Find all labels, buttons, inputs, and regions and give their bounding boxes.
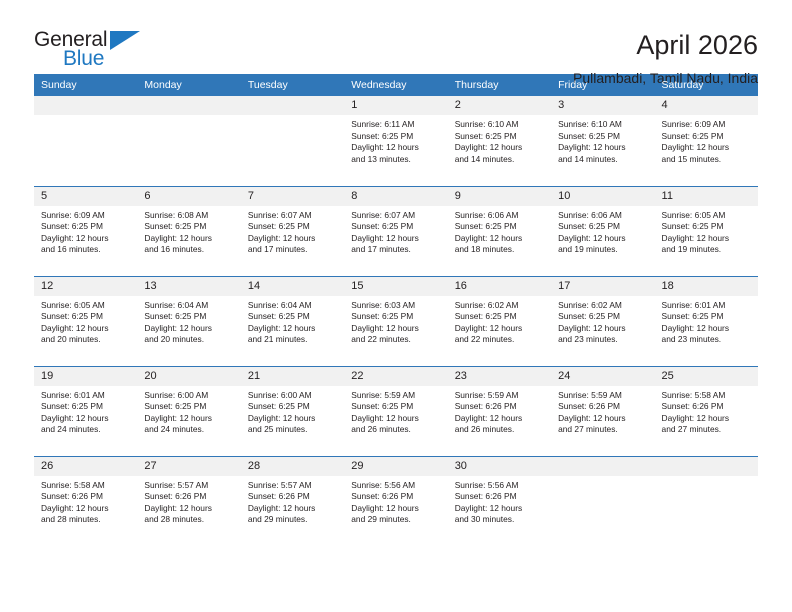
daylight-text-line2: and 24 minutes. — [144, 424, 234, 436]
calendar-day-cell[interactable]: 17Sunrise: 6:02 AMSunset: 6:25 PMDayligh… — [551, 276, 654, 366]
daylight-text-line1: Daylight: 12 hours — [558, 142, 648, 154]
sunset-text: Sunset: 6:25 PM — [455, 131, 545, 143]
sunset-text: Sunset: 6:26 PM — [455, 401, 545, 413]
sunset-text: Sunset: 6:25 PM — [41, 311, 131, 323]
daylight-text-line1: Daylight: 12 hours — [662, 142, 752, 154]
sunset-text: Sunset: 6:25 PM — [248, 401, 338, 413]
daylight-text-line2: and 23 minutes. — [662, 334, 752, 346]
sunrise-text: Sunrise: 5:56 AM — [455, 480, 545, 492]
day-number: 23 — [448, 367, 551, 386]
daylight-text-line1: Daylight: 12 hours — [558, 233, 648, 245]
title-block: April 2026 Pullambadi, Tamil Nadu, India — [573, 28, 758, 86]
daylight-text-line2: and 13 minutes. — [351, 154, 441, 166]
weekday-header-sunday: Sunday — [34, 74, 137, 96]
day-number: 6 — [137, 187, 240, 206]
day-number — [655, 457, 758, 476]
daylight-text-line2: and 16 minutes. — [41, 244, 131, 256]
daylight-text-line1: Daylight: 12 hours — [351, 323, 441, 335]
day-details: Sunrise: 6:04 AMSunset: 6:25 PMDaylight:… — [137, 296, 240, 346]
sunrise-text: Sunrise: 6:02 AM — [455, 300, 545, 312]
sunrise-text: Sunrise: 5:58 AM — [662, 390, 752, 402]
calendar-day-cell[interactable]: 25Sunrise: 5:58 AMSunset: 6:26 PMDayligh… — [655, 366, 758, 456]
sunrise-text: Sunrise: 6:09 AM — [41, 210, 131, 222]
daylight-text-line2: and 25 minutes. — [248, 424, 338, 436]
calendar-day-cell[interactable]: 3Sunrise: 6:10 AMSunset: 6:25 PMDaylight… — [551, 96, 654, 186]
daylight-text-line1: Daylight: 12 hours — [351, 413, 441, 425]
weekday-header-tuesday: Tuesday — [241, 74, 344, 96]
daylight-text-line2: and 26 minutes. — [455, 424, 545, 436]
sunrise-text: Sunrise: 5:59 AM — [558, 390, 648, 402]
sunrise-text: Sunrise: 6:05 AM — [662, 210, 752, 222]
day-number: 26 — [34, 457, 137, 476]
day-details: Sunrise: 5:58 AMSunset: 6:26 PMDaylight:… — [34, 476, 137, 526]
daylight-text-line1: Daylight: 12 hours — [558, 413, 648, 425]
calendar-day-cell[interactable]: 28Sunrise: 5:57 AMSunset: 6:26 PMDayligh… — [241, 456, 344, 546]
daylight-text-line1: Daylight: 12 hours — [662, 233, 752, 245]
calendar-week-row: 12Sunrise: 6:05 AMSunset: 6:25 PMDayligh… — [34, 276, 758, 366]
sunrise-text: Sunrise: 6:04 AM — [144, 300, 234, 312]
calendar-day-cell-empty — [241, 96, 344, 186]
day-number: 10 — [551, 187, 654, 206]
sunrise-text: Sunrise: 6:01 AM — [41, 390, 131, 402]
page-header: General Blue April 2026 Pullambadi, Tami… — [34, 0, 758, 74]
daylight-text-line2: and 14 minutes. — [455, 154, 545, 166]
sunset-text: Sunset: 6:25 PM — [558, 221, 648, 233]
sunrise-text: Sunrise: 6:05 AM — [41, 300, 131, 312]
day-number: 25 — [655, 367, 758, 386]
day-details: Sunrise: 6:01 AMSunset: 6:25 PMDaylight:… — [34, 386, 137, 436]
calendar-day-cell[interactable]: 30Sunrise: 5:56 AMSunset: 6:26 PMDayligh… — [448, 456, 551, 546]
daylight-text-line1: Daylight: 12 hours — [248, 503, 338, 515]
sunrise-text: Sunrise: 6:07 AM — [248, 210, 338, 222]
day-details: Sunrise: 6:10 AMSunset: 6:25 PMDaylight:… — [551, 115, 654, 165]
calendar-day-cell[interactable]: 19Sunrise: 6:01 AMSunset: 6:25 PMDayligh… — [34, 366, 137, 456]
day-details: Sunrise: 5:57 AMSunset: 6:26 PMDaylight:… — [241, 476, 344, 526]
calendar-day-cell-empty — [34, 96, 137, 186]
day-number: 13 — [137, 277, 240, 296]
sunrise-text: Sunrise: 6:09 AM — [662, 119, 752, 131]
sunrise-text: Sunrise: 6:01 AM — [662, 300, 752, 312]
daylight-text-line2: and 19 minutes. — [662, 244, 752, 256]
generalblue-logo[interactable]: General Blue — [34, 28, 152, 76]
day-number: 1 — [344, 96, 447, 115]
sunset-text: Sunset: 6:25 PM — [351, 221, 441, 233]
daylight-text-line2: and 23 minutes. — [558, 334, 648, 346]
sunset-text: Sunset: 6:25 PM — [662, 131, 752, 143]
sunset-text: Sunset: 6:26 PM — [351, 491, 441, 503]
day-details: Sunrise: 5:58 AMSunset: 6:26 PMDaylight:… — [655, 386, 758, 436]
logo-triangle-icon — [110, 31, 140, 50]
sunset-text: Sunset: 6:25 PM — [144, 221, 234, 233]
daylight-text-line1: Daylight: 12 hours — [41, 323, 131, 335]
calendar-day-cell[interactable]: 9Sunrise: 6:06 AMSunset: 6:25 PMDaylight… — [448, 186, 551, 276]
day-number: 21 — [241, 367, 344, 386]
calendar-day-cell[interactable]: 16Sunrise: 6:02 AMSunset: 6:25 PMDayligh… — [448, 276, 551, 366]
day-number: 3 — [551, 96, 654, 115]
sunset-text: Sunset: 6:25 PM — [455, 221, 545, 233]
calendar-day-cell[interactable]: 8Sunrise: 6:07 AMSunset: 6:25 PMDaylight… — [344, 186, 447, 276]
daylight-text-line1: Daylight: 12 hours — [662, 323, 752, 335]
daylight-text-line1: Daylight: 12 hours — [41, 503, 131, 515]
sunrise-text: Sunrise: 6:06 AM — [455, 210, 545, 222]
day-number: 5 — [34, 187, 137, 206]
daylight-text-line2: and 27 minutes. — [662, 424, 752, 436]
daylight-text-line1: Daylight: 12 hours — [144, 503, 234, 515]
sunset-text: Sunset: 6:25 PM — [351, 311, 441, 323]
sunset-text: Sunset: 6:25 PM — [455, 311, 545, 323]
calendar-page: General Blue April 2026 Pullambadi, Tami… — [0, 0, 792, 612]
daylight-text-line2: and 24 minutes. — [41, 424, 131, 436]
day-details: Sunrise: 5:59 AMSunset: 6:26 PMDaylight:… — [551, 386, 654, 436]
sunset-text: Sunset: 6:25 PM — [351, 131, 441, 143]
daylight-text-line1: Daylight: 12 hours — [662, 413, 752, 425]
day-number: 30 — [448, 457, 551, 476]
sunset-text: Sunset: 6:25 PM — [662, 221, 752, 233]
day-number: 20 — [137, 367, 240, 386]
sunrise-text: Sunrise: 6:06 AM — [558, 210, 648, 222]
calendar-day-cell[interactable]: 23Sunrise: 5:59 AMSunset: 6:26 PMDayligh… — [448, 366, 551, 456]
calendar-day-cell[interactable]: 22Sunrise: 5:59 AMSunset: 6:25 PMDayligh… — [344, 366, 447, 456]
calendar-day-cell[interactable]: 15Sunrise: 6:03 AMSunset: 6:25 PMDayligh… — [344, 276, 447, 366]
calendar-week-row: 19Sunrise: 6:01 AMSunset: 6:25 PMDayligh… — [34, 366, 758, 456]
daylight-text-line1: Daylight: 12 hours — [41, 413, 131, 425]
daylight-text-line2: and 21 minutes. — [248, 334, 338, 346]
day-number: 11 — [655, 187, 758, 206]
day-details: Sunrise: 6:11 AMSunset: 6:25 PMDaylight:… — [344, 115, 447, 165]
daylight-text-line2: and 28 minutes. — [144, 514, 234, 526]
day-details: Sunrise: 6:08 AMSunset: 6:25 PMDaylight:… — [137, 206, 240, 256]
day-details: Sunrise: 6:06 AMSunset: 6:25 PMDaylight:… — [448, 206, 551, 256]
daylight-text-line2: and 29 minutes. — [248, 514, 338, 526]
sunrise-text: Sunrise: 6:02 AM — [558, 300, 648, 312]
calendar-day-cell[interactable]: 7Sunrise: 6:07 AMSunset: 6:25 PMDaylight… — [241, 186, 344, 276]
day-details: Sunrise: 6:02 AMSunset: 6:25 PMDaylight:… — [448, 296, 551, 346]
daylight-text-line1: Daylight: 12 hours — [248, 413, 338, 425]
sunset-text: Sunset: 6:25 PM — [248, 311, 338, 323]
day-number — [34, 96, 137, 115]
day-number: 7 — [241, 187, 344, 206]
sunrise-text: Sunrise: 5:56 AM — [351, 480, 441, 492]
sunset-text: Sunset: 6:25 PM — [558, 311, 648, 323]
day-number: 22 — [344, 367, 447, 386]
day-details: Sunrise: 6:06 AMSunset: 6:25 PMDaylight:… — [551, 206, 654, 256]
sunset-text: Sunset: 6:25 PM — [558, 131, 648, 143]
day-details: Sunrise: 5:59 AMSunset: 6:25 PMDaylight:… — [344, 386, 447, 436]
day-details: Sunrise: 5:56 AMSunset: 6:26 PMDaylight:… — [344, 476, 447, 526]
daylight-text-line1: Daylight: 12 hours — [144, 413, 234, 425]
calendar-day-cell-empty — [551, 456, 654, 546]
sunrise-text: Sunrise: 6:08 AM — [144, 210, 234, 222]
calendar-day-cell[interactable]: 20Sunrise: 6:00 AMSunset: 6:25 PMDayligh… — [137, 366, 240, 456]
calendar-week-row: 1Sunrise: 6:11 AMSunset: 6:25 PMDaylight… — [34, 96, 758, 186]
sunset-text: Sunset: 6:26 PM — [144, 491, 234, 503]
sunrise-text: Sunrise: 6:00 AM — [248, 390, 338, 402]
daylight-text-line2: and 20 minutes. — [144, 334, 234, 346]
daylight-text-line2: and 17 minutes. — [248, 244, 338, 256]
calendar-day-cell[interactable]: 10Sunrise: 6:06 AMSunset: 6:25 PMDayligh… — [551, 186, 654, 276]
page-title: April 2026 — [573, 30, 758, 60]
day-details: Sunrise: 6:00 AMSunset: 6:25 PMDaylight:… — [241, 386, 344, 436]
calendar-day-cell[interactable]: 13Sunrise: 6:04 AMSunset: 6:25 PMDayligh… — [137, 276, 240, 366]
daylight-text-line1: Daylight: 12 hours — [144, 233, 234, 245]
day-details: Sunrise: 6:02 AMSunset: 6:25 PMDaylight:… — [551, 296, 654, 346]
calendar-day-cell[interactable]: 27Sunrise: 5:57 AMSunset: 6:26 PMDayligh… — [137, 456, 240, 546]
sunrise-text: Sunrise: 5:58 AM — [41, 480, 131, 492]
day-number: 8 — [344, 187, 447, 206]
calendar-week-row: 5Sunrise: 6:09 AMSunset: 6:25 PMDaylight… — [34, 186, 758, 276]
calendar-table: SundayMondayTuesdayWednesdayThursdayFrid… — [34, 74, 758, 546]
day-details: Sunrise: 6:04 AMSunset: 6:25 PMDaylight:… — [241, 296, 344, 346]
daylight-text-line2: and 20 minutes. — [41, 334, 131, 346]
day-details: Sunrise: 6:05 AMSunset: 6:25 PMDaylight:… — [34, 296, 137, 346]
day-number: 16 — [448, 277, 551, 296]
calendar-day-cell-empty — [137, 96, 240, 186]
sunset-text: Sunset: 6:25 PM — [41, 401, 131, 413]
sunrise-text: Sunrise: 5:57 AM — [144, 480, 234, 492]
sunset-text: Sunset: 6:25 PM — [144, 401, 234, 413]
sunset-text: Sunset: 6:26 PM — [248, 491, 338, 503]
day-details: Sunrise: 6:05 AMSunset: 6:25 PMDaylight:… — [655, 206, 758, 256]
calendar-week-row: 26Sunrise: 5:58 AMSunset: 6:26 PMDayligh… — [34, 456, 758, 546]
day-number: 27 — [137, 457, 240, 476]
day-details: Sunrise: 5:57 AMSunset: 6:26 PMDaylight:… — [137, 476, 240, 526]
daylight-text-line1: Daylight: 12 hours — [455, 323, 545, 335]
calendar-day-cell[interactable]: 5Sunrise: 6:09 AMSunset: 6:25 PMDaylight… — [34, 186, 137, 276]
calendar-day-cell[interactable]: 1Sunrise: 6:11 AMSunset: 6:25 PMDaylight… — [344, 96, 447, 186]
day-details: Sunrise: 6:03 AMSunset: 6:25 PMDaylight:… — [344, 296, 447, 346]
day-number — [551, 457, 654, 476]
day-number: 24 — [551, 367, 654, 386]
daylight-text-line1: Daylight: 12 hours — [351, 233, 441, 245]
sunset-text: Sunset: 6:25 PM — [41, 221, 131, 233]
day-details: Sunrise: 5:59 AMSunset: 6:26 PMDaylight:… — [448, 386, 551, 436]
daylight-text-line1: Daylight: 12 hours — [248, 233, 338, 245]
daylight-text-line2: and 14 minutes. — [558, 154, 648, 166]
sunset-text: Sunset: 6:25 PM — [248, 221, 338, 233]
day-details: Sunrise: 6:09 AMSunset: 6:25 PMDaylight:… — [655, 115, 758, 165]
daylight-text-line2: and 18 minutes. — [455, 244, 545, 256]
sunrise-text: Sunrise: 6:04 AM — [248, 300, 338, 312]
day-number — [241, 96, 344, 115]
calendar-day-cell-empty — [655, 456, 758, 546]
daylight-text-line2: and 28 minutes. — [41, 514, 131, 526]
calendar-body: 1Sunrise: 6:11 AMSunset: 6:25 PMDaylight… — [34, 96, 758, 546]
sunrise-text: Sunrise: 6:03 AM — [351, 300, 441, 312]
daylight-text-line1: Daylight: 12 hours — [558, 323, 648, 335]
sunrise-text: Sunrise: 6:00 AM — [144, 390, 234, 402]
sunset-text: Sunset: 6:26 PM — [41, 491, 131, 503]
day-number: 4 — [655, 96, 758, 115]
day-details: Sunrise: 6:07 AMSunset: 6:25 PMDaylight:… — [344, 206, 447, 256]
day-number: 19 — [34, 367, 137, 386]
sunrise-text: Sunrise: 5:59 AM — [351, 390, 441, 402]
day-number: 9 — [448, 187, 551, 206]
calendar-day-cell[interactable]: 18Sunrise: 6:01 AMSunset: 6:25 PMDayligh… — [655, 276, 758, 366]
sunrise-text: Sunrise: 6:11 AM — [351, 119, 441, 131]
daylight-text-line1: Daylight: 12 hours — [351, 142, 441, 154]
daylight-text-line1: Daylight: 12 hours — [248, 323, 338, 335]
day-number — [137, 96, 240, 115]
day-number: 17 — [551, 277, 654, 296]
daylight-text-line1: Daylight: 12 hours — [455, 142, 545, 154]
daylight-text-line1: Daylight: 12 hours — [351, 503, 441, 515]
day-details: Sunrise: 6:07 AMSunset: 6:25 PMDaylight:… — [241, 206, 344, 256]
daylight-text-line1: Daylight: 12 hours — [41, 233, 131, 245]
daylight-text-line2: and 26 minutes. — [351, 424, 441, 436]
daylight-text-line1: Daylight: 12 hours — [455, 413, 545, 425]
calendar-day-cell[interactable]: 14Sunrise: 6:04 AMSunset: 6:25 PMDayligh… — [241, 276, 344, 366]
daylight-text-line2: and 15 minutes. — [662, 154, 752, 166]
sunset-text: Sunset: 6:25 PM — [351, 401, 441, 413]
calendar-day-cell[interactable]: 2Sunrise: 6:10 AMSunset: 6:25 PMDaylight… — [448, 96, 551, 186]
sunrise-text: Sunrise: 6:07 AM — [351, 210, 441, 222]
weekday-header-thursday: Thursday — [448, 74, 551, 96]
daylight-text-line2: and 22 minutes. — [351, 334, 441, 346]
day-details: Sunrise: 5:56 AMSunset: 6:26 PMDaylight:… — [448, 476, 551, 526]
day-number: 15 — [344, 277, 447, 296]
daylight-text-line2: and 22 minutes. — [455, 334, 545, 346]
sunset-text: Sunset: 6:25 PM — [144, 311, 234, 323]
sunrise-text: Sunrise: 6:10 AM — [558, 119, 648, 131]
day-number: 18 — [655, 277, 758, 296]
daylight-text-line1: Daylight: 12 hours — [144, 323, 234, 335]
calendar-day-cell[interactable]: 24Sunrise: 5:59 AMSunset: 6:26 PMDayligh… — [551, 366, 654, 456]
daylight-text-line2: and 17 minutes. — [351, 244, 441, 256]
sunrise-text: Sunrise: 5:59 AM — [455, 390, 545, 402]
day-number: 2 — [448, 96, 551, 115]
sunset-text: Sunset: 6:26 PM — [455, 491, 545, 503]
daylight-text-line1: Daylight: 12 hours — [455, 233, 545, 245]
calendar-day-cell[interactable]: 6Sunrise: 6:08 AMSunset: 6:25 PMDaylight… — [137, 186, 240, 276]
sunrise-text: Sunrise: 6:10 AM — [455, 119, 545, 131]
calendar-day-cell[interactable]: 21Sunrise: 6:00 AMSunset: 6:25 PMDayligh… — [241, 366, 344, 456]
sunset-text: Sunset: 6:26 PM — [662, 401, 752, 413]
sunrise-text: Sunrise: 5:57 AM — [248, 480, 338, 492]
calendar-day-cell[interactable]: 29Sunrise: 5:56 AMSunset: 6:26 PMDayligh… — [344, 456, 447, 546]
day-number: 28 — [241, 457, 344, 476]
day-details: Sunrise: 6:00 AMSunset: 6:25 PMDaylight:… — [137, 386, 240, 436]
day-details: Sunrise: 6:01 AMSunset: 6:25 PMDaylight:… — [655, 296, 758, 346]
logo-text-blue: Blue — [63, 47, 104, 71]
calendar-day-cell[interactable]: 26Sunrise: 5:58 AMSunset: 6:26 PMDayligh… — [34, 456, 137, 546]
daylight-text-line2: and 27 minutes. — [558, 424, 648, 436]
day-details: Sunrise: 6:10 AMSunset: 6:25 PMDaylight:… — [448, 115, 551, 165]
daylight-text-line1: Daylight: 12 hours — [455, 503, 545, 515]
calendar-day-cell[interactable]: 12Sunrise: 6:05 AMSunset: 6:25 PMDayligh… — [34, 276, 137, 366]
calendar-day-cell[interactable]: 4Sunrise: 6:09 AMSunset: 6:25 PMDaylight… — [655, 96, 758, 186]
sunset-text: Sunset: 6:25 PM — [662, 311, 752, 323]
daylight-text-line2: and 29 minutes. — [351, 514, 441, 526]
day-details: Sunrise: 6:09 AMSunset: 6:25 PMDaylight:… — [34, 206, 137, 256]
calendar-day-cell[interactable]: 11Sunrise: 6:05 AMSunset: 6:25 PMDayligh… — [655, 186, 758, 276]
sunset-text: Sunset: 6:26 PM — [558, 401, 648, 413]
day-number: 12 — [34, 277, 137, 296]
weekday-header-monday: Monday — [137, 74, 240, 96]
weekday-header-wednesday: Wednesday — [344, 74, 447, 96]
day-number: 14 — [241, 277, 344, 296]
daylight-text-line2: and 19 minutes. — [558, 244, 648, 256]
day-number: 29 — [344, 457, 447, 476]
daylight-text-line2: and 16 minutes. — [144, 244, 234, 256]
daylight-text-line2: and 30 minutes. — [455, 514, 545, 526]
